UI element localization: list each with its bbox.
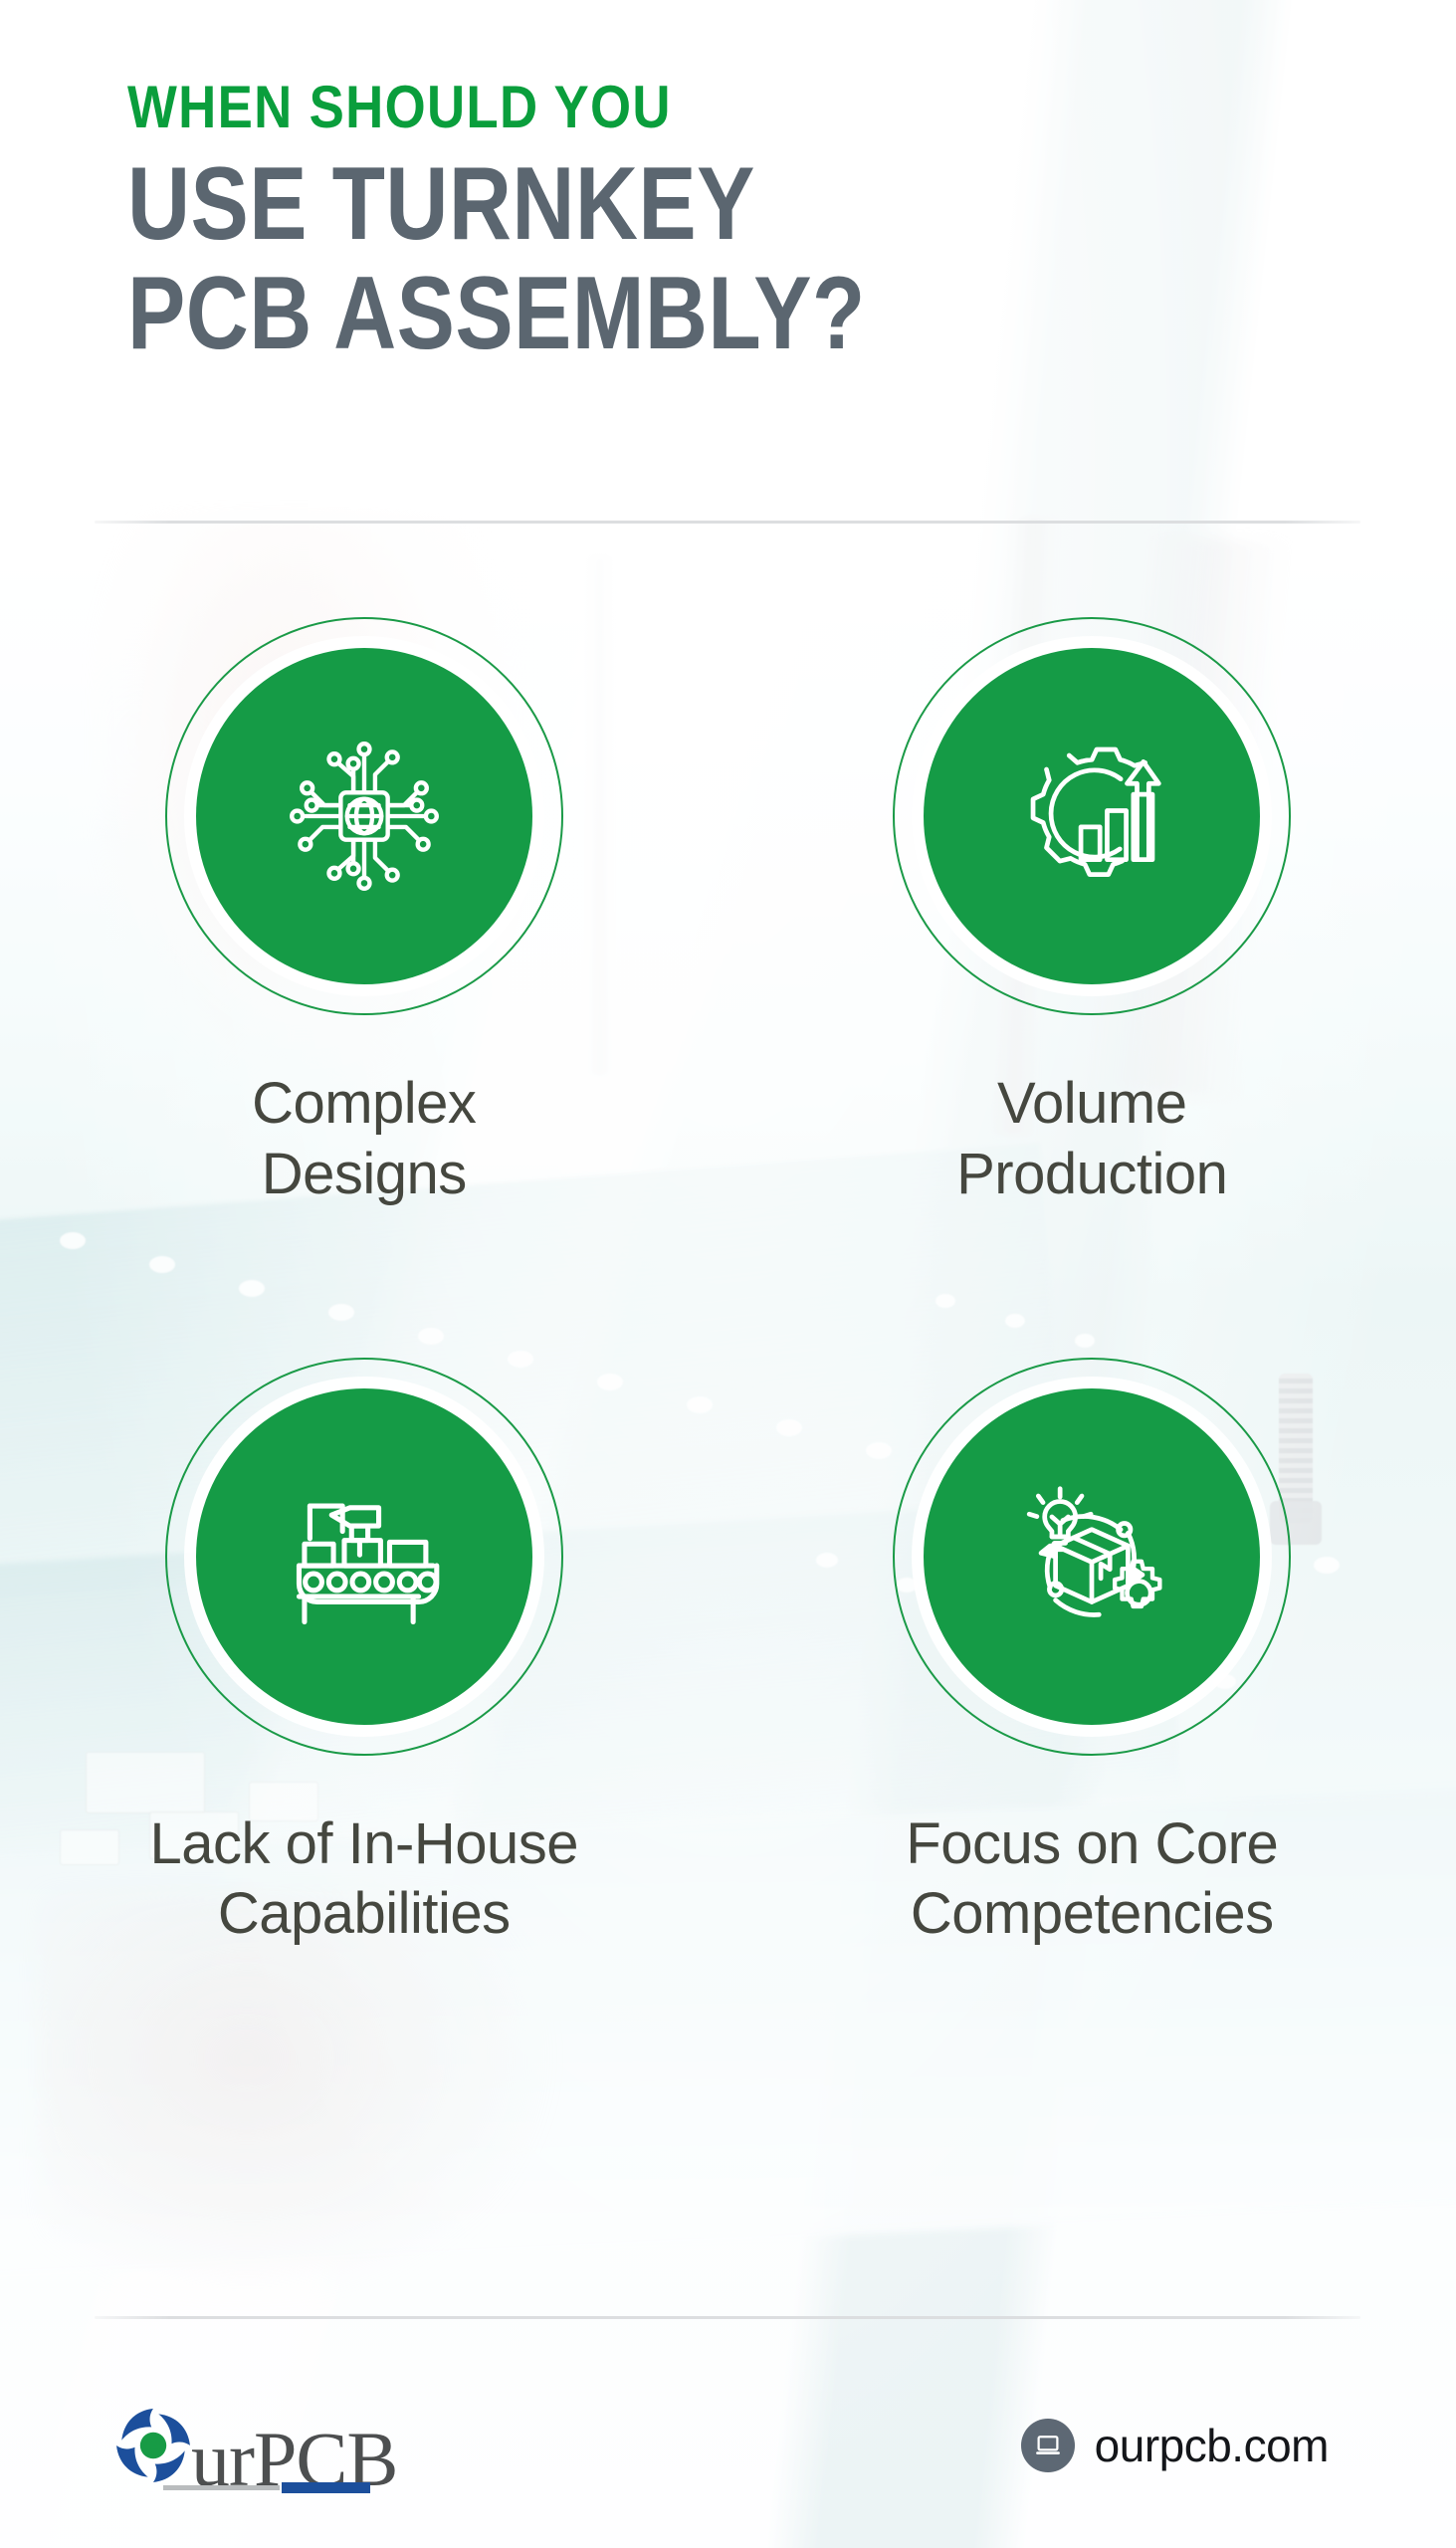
icon-badge: [165, 617, 563, 1015]
reason-label-line-1: Complex: [252, 1069, 476, 1140]
reason-label-line-2: Production: [956, 1140, 1227, 1210]
reason-label-line-2: Competencies: [906, 1879, 1278, 1950]
reason-label: Lack of In-House Capabilities: [150, 1809, 578, 1951]
reason-card-complex-designs: Complex Designs: [0, 617, 728, 1210]
reason-label-line-1: Lack of In-House: [150, 1809, 578, 1880]
badge-disc: [196, 1388, 532, 1725]
reason-label: Volume Production: [956, 1069, 1227, 1210]
poster-header: WHEN SHOULD YOU USE TURNKEY PCB ASSEMBLY…: [0, 0, 1456, 366]
divider-top: [95, 521, 1360, 524]
reason-card-focus-on-core-competencies: Focus on Core Competencies: [728, 1358, 1456, 1951]
reasons-grid: Complex Designs: [0, 617, 1456, 1950]
infographic-poster: WHEN SHOULD YOU USE TURNKEY PCB ASSEMBLY…: [0, 0, 1456, 2548]
page-title: USE TURNKEY PCB ASSEMBLY?: [127, 151, 1243, 366]
logo-bar-gray: [163, 2485, 280, 2490]
reason-card-volume-production: Volume Production: [728, 617, 1456, 1210]
laptop-badge: [1021, 2419, 1075, 2472]
reason-label: Complex Designs: [252, 1069, 476, 1210]
ourpcb-logo[interactable]: urPCB: [109, 2402, 397, 2489]
gear-bar-chart-growth-icon: [1001, 726, 1182, 907]
badge-disc: [196, 648, 532, 984]
reason-label-line-2: Capabilities: [150, 1879, 578, 1950]
title-line-2: PCB ASSEMBLY?: [127, 261, 1243, 366]
website-text: ourpcb.com: [1095, 2419, 1329, 2472]
ourpcb-swirl-logo-icon: [109, 2402, 197, 2489]
reason-label-line-1: Volume: [956, 1069, 1227, 1140]
divider-bottom: [95, 2316, 1360, 2319]
circuit-chip-globe-icon: [274, 726, 455, 907]
badge-disc: [924, 1388, 1260, 1725]
website-link[interactable]: ourpcb.com: [1021, 2419, 1329, 2472]
icon-badge: [893, 617, 1291, 1015]
reason-card-lack-of-in-house-capabilities: Lack of In-House Capabilities: [0, 1358, 728, 1951]
reason-label: Focus on Core Competencies: [906, 1809, 1278, 1951]
poster-footer: urPCB ourpcb.com: [0, 2381, 1456, 2510]
reason-label-line-2: Designs: [252, 1140, 476, 1210]
logo-underline-bars: [163, 2482, 370, 2493]
badge-disc: [924, 648, 1260, 984]
title-line-1: USE TURNKEY: [127, 146, 755, 262]
logo-bar-blue: [282, 2482, 370, 2493]
laptop-icon: [1033, 2431, 1063, 2460]
package-lightbulb-gear-cycle-icon: [1001, 1466, 1182, 1647]
conveyor-belt-robot-arm-icon: [274, 1466, 455, 1647]
icon-badge: [893, 1358, 1291, 1756]
reason-label-line-1: Focus on Core: [906, 1809, 1278, 1880]
header-kicker: WHEN SHOULD YOU: [127, 78, 1297, 137]
icon-badge: [165, 1358, 563, 1756]
